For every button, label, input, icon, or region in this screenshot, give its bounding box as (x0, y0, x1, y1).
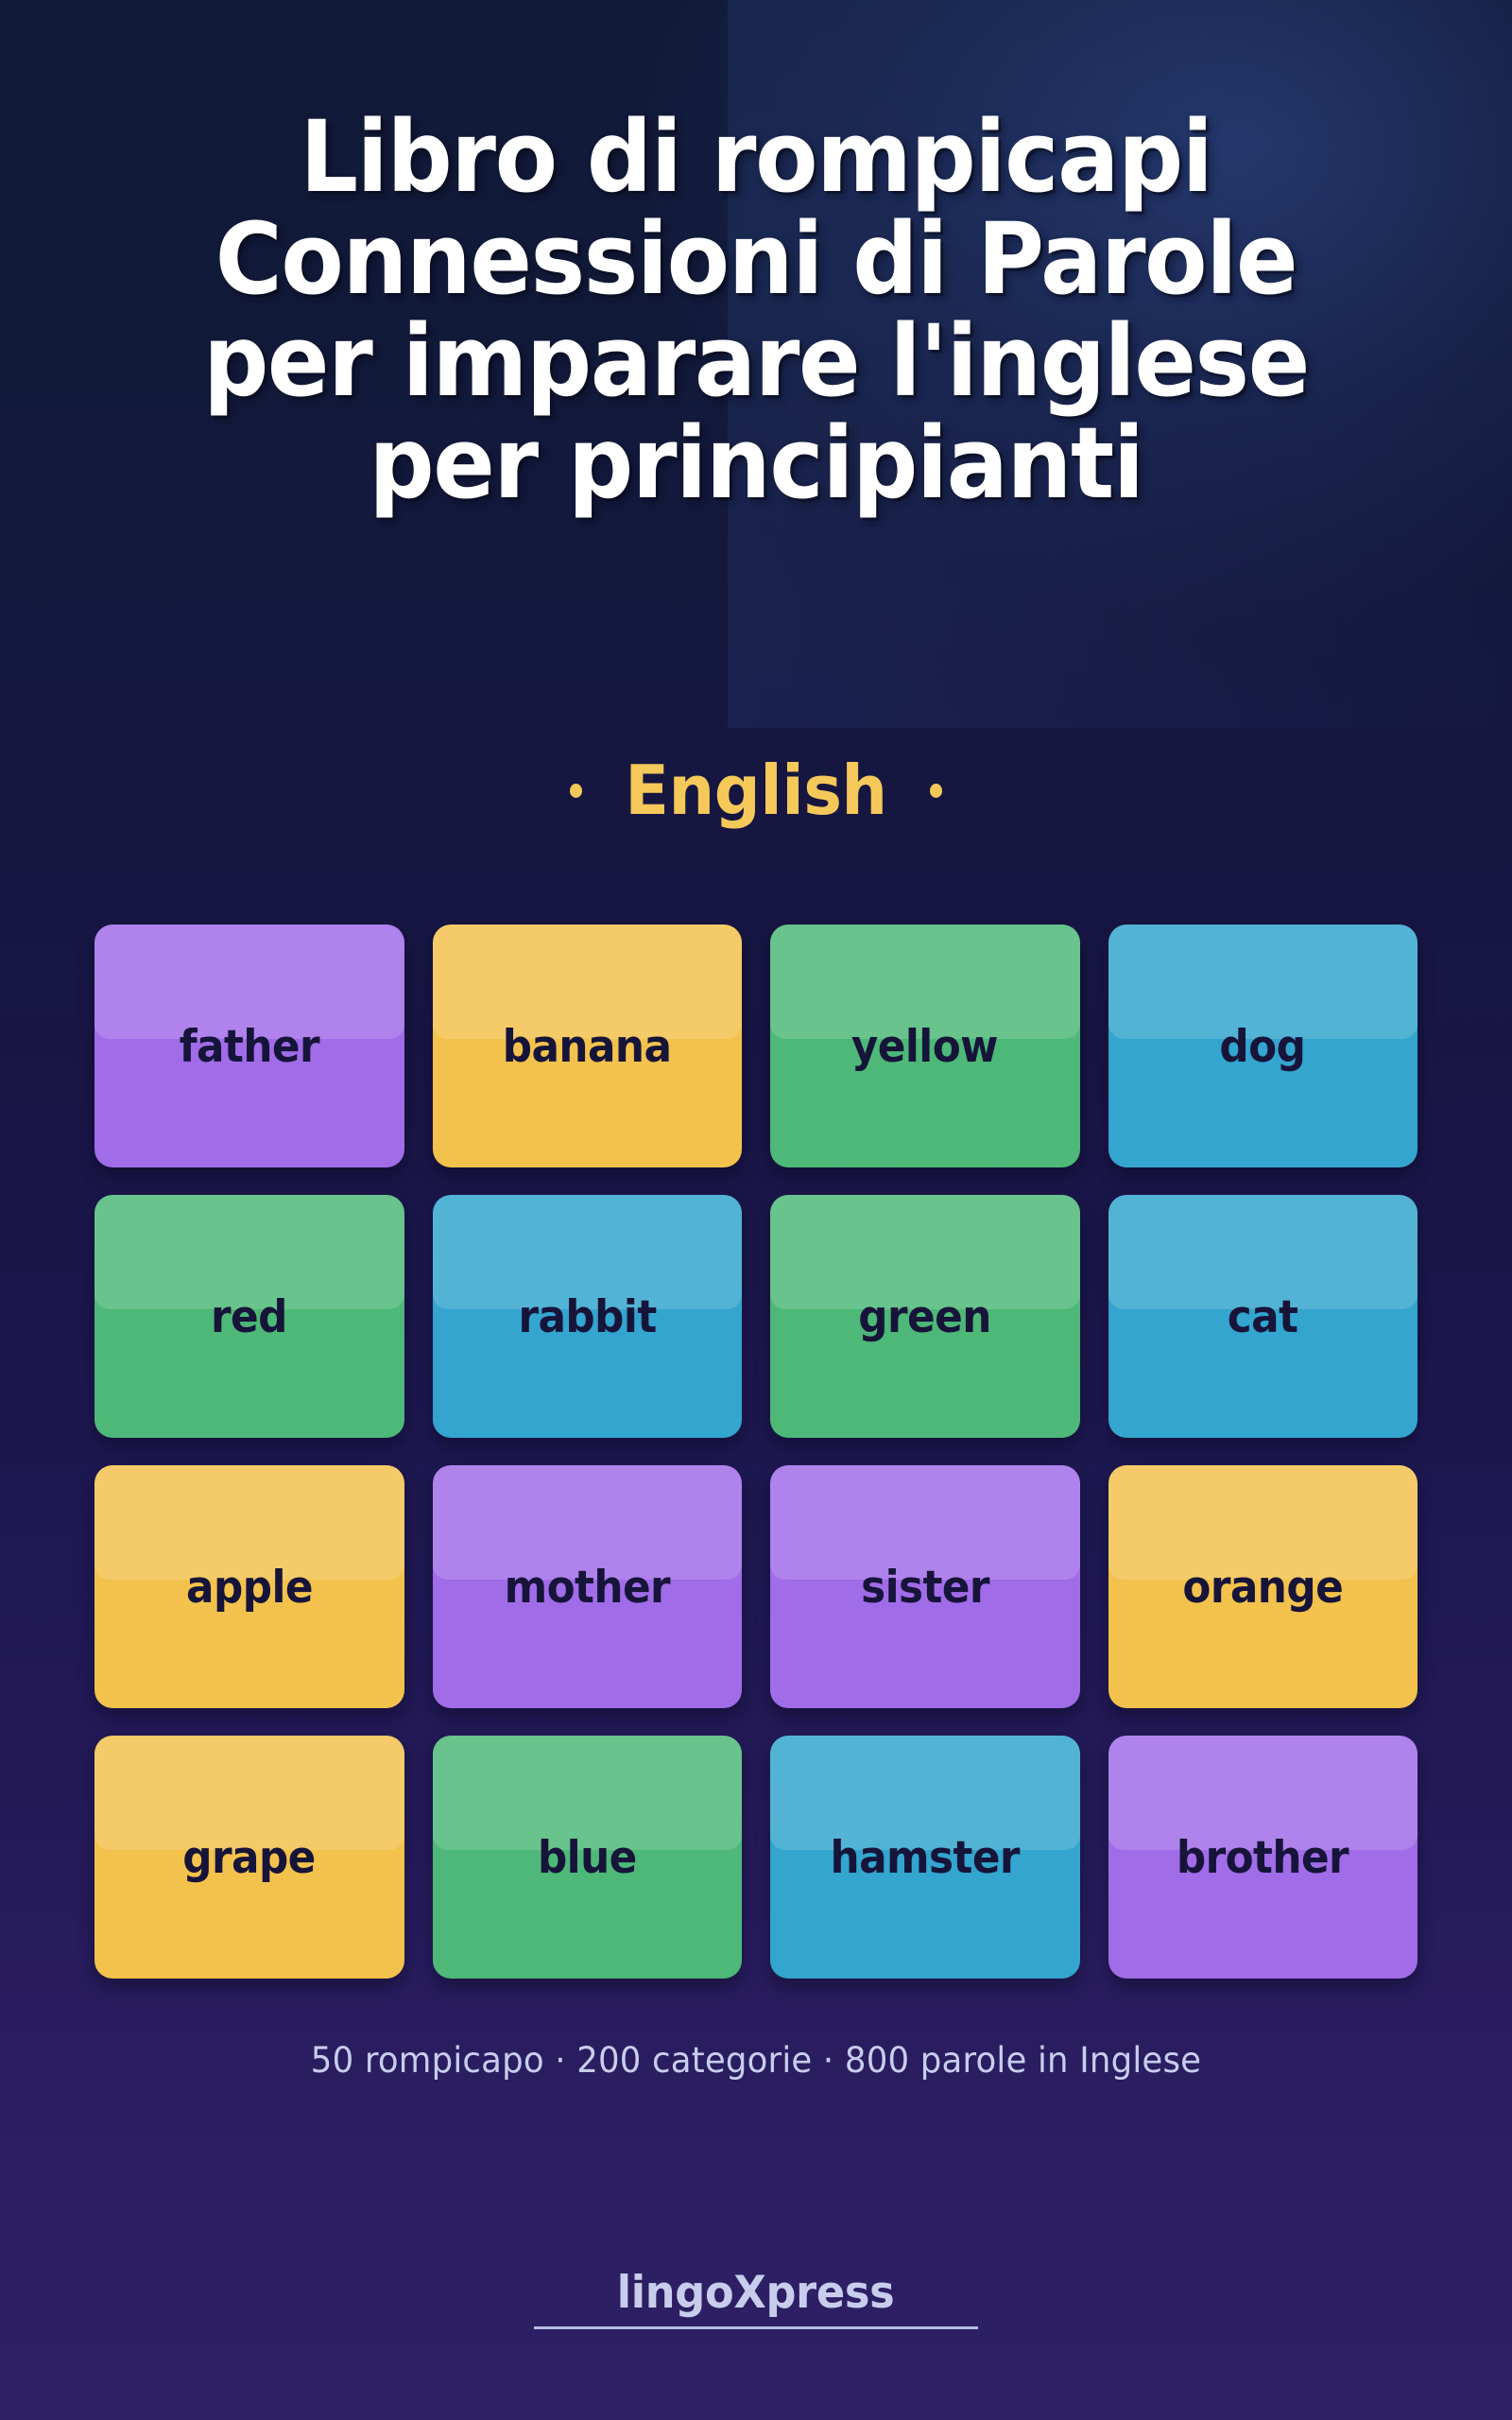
brand-name: lingoXpress (611, 2267, 900, 2319)
tile-word: dog (1220, 1021, 1306, 1073)
tile-word: brother (1177, 1832, 1349, 1884)
word-tile[interactable]: rabbit (433, 1195, 743, 1438)
tile-word: cat (1228, 1291, 1298, 1343)
word-tile[interactable]: red (94, 1195, 404, 1438)
page-title: Libro di rompicapi Connessioni di Parole… (0, 106, 1512, 515)
word-tile[interactable]: orange (1108, 1465, 1418, 1708)
word-tile[interactable]: green (770, 1195, 1080, 1438)
tile-word: grape (183, 1832, 316, 1884)
word-tile[interactable]: banana (433, 925, 743, 1167)
word-tile[interactable]: sister (770, 1465, 1080, 1708)
word-tile[interactable]: cat (1108, 1195, 1418, 1438)
tile-word: father (180, 1021, 319, 1073)
word-tile[interactable]: blue (433, 1736, 743, 1979)
tile-word: mother (505, 1562, 670, 1614)
brand-underline (534, 2326, 978, 2329)
brand-block: lingoXpress (0, 2267, 1512, 2329)
tile-word: sister (861, 1562, 989, 1614)
stats-line: 50 rompicapo · 200 categorie · 800 parol… (30, 2040, 1482, 2081)
tile-word: hamster (831, 1832, 1020, 1884)
title-line-4: per principianti (94, 412, 1418, 514)
word-tile[interactable]: dog (1108, 925, 1418, 1167)
tile-word: apple (186, 1562, 313, 1614)
word-tile[interactable]: hamster (770, 1736, 1080, 1979)
word-tile[interactable]: mother (433, 1465, 743, 1708)
word-tile[interactable]: apple (94, 1465, 404, 1708)
word-tile[interactable]: father (94, 925, 404, 1167)
language-name: English (625, 756, 886, 824)
title-line-3: per imparare l'inglese (94, 310, 1418, 412)
word-tile-grid: father banana yellow dog red rabbit gree… (94, 925, 1417, 1979)
tile-word: red (211, 1291, 287, 1343)
tile-word: banana (503, 1021, 672, 1073)
tile-word: green (859, 1291, 991, 1343)
title-line-1: Libro di rompicapi (94, 106, 1418, 208)
word-tile[interactable]: grape (94, 1736, 404, 1979)
tile-word: blue (538, 1832, 637, 1884)
dot-left-icon (570, 784, 582, 798)
word-tile[interactable]: yellow (770, 925, 1080, 1167)
language-badge: English (0, 756, 1512, 824)
word-tile[interactable]: brother (1108, 1736, 1418, 1979)
tile-word: rabbit (518, 1291, 656, 1343)
book-cover: Libro di rompicapi Connessioni di Parole… (0, 0, 1512, 2420)
title-line-2: Connessioni di Parole (94, 208, 1418, 310)
dot-right-icon (930, 784, 942, 798)
tile-word: yellow (851, 1021, 998, 1073)
tile-word: orange (1182, 1562, 1343, 1614)
